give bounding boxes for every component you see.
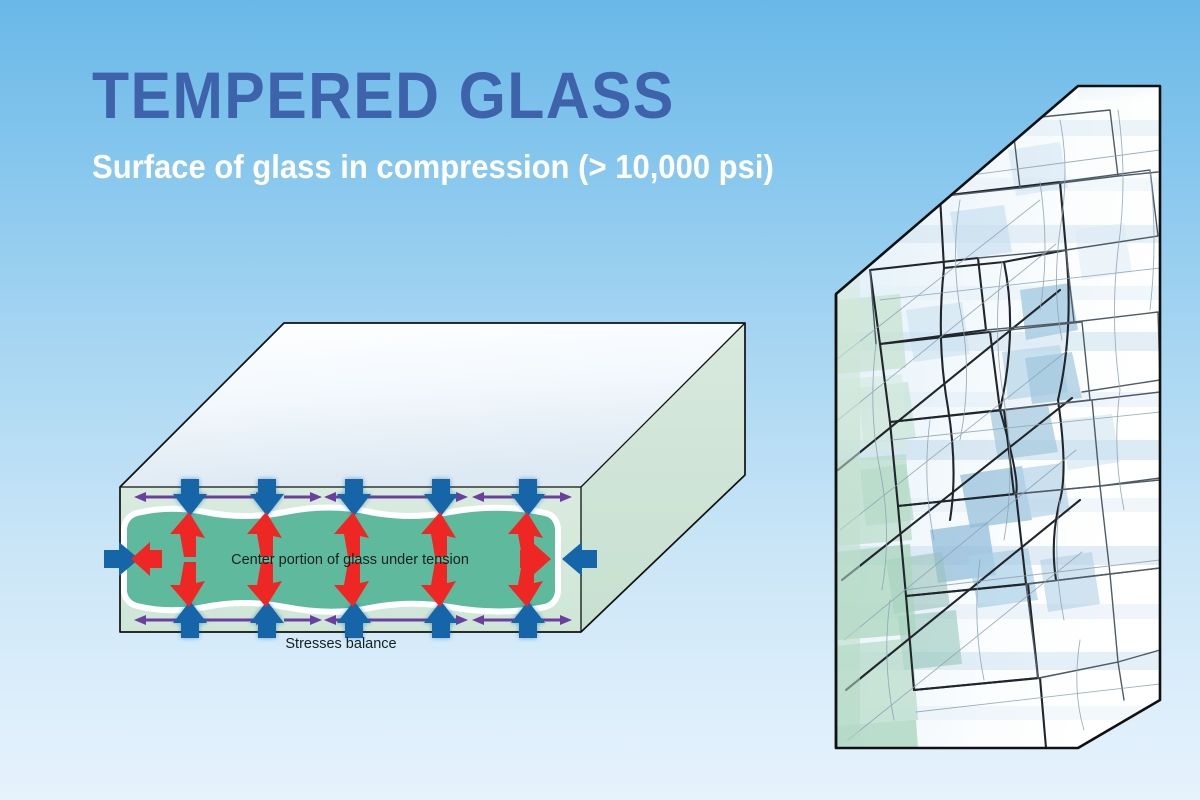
stress-slab-layer: Center portion of glass under tension St… xyxy=(0,0,1200,800)
stress-slab: Center portion of glass under tension St… xyxy=(104,323,745,652)
center-tension-label: Center portion of glass under tension xyxy=(231,552,469,568)
stresses-balance-label: Stresses balance xyxy=(285,636,396,652)
tempered-glass-infographic: TEMPERED GLASS Surface of glass in compr… xyxy=(0,0,1200,800)
